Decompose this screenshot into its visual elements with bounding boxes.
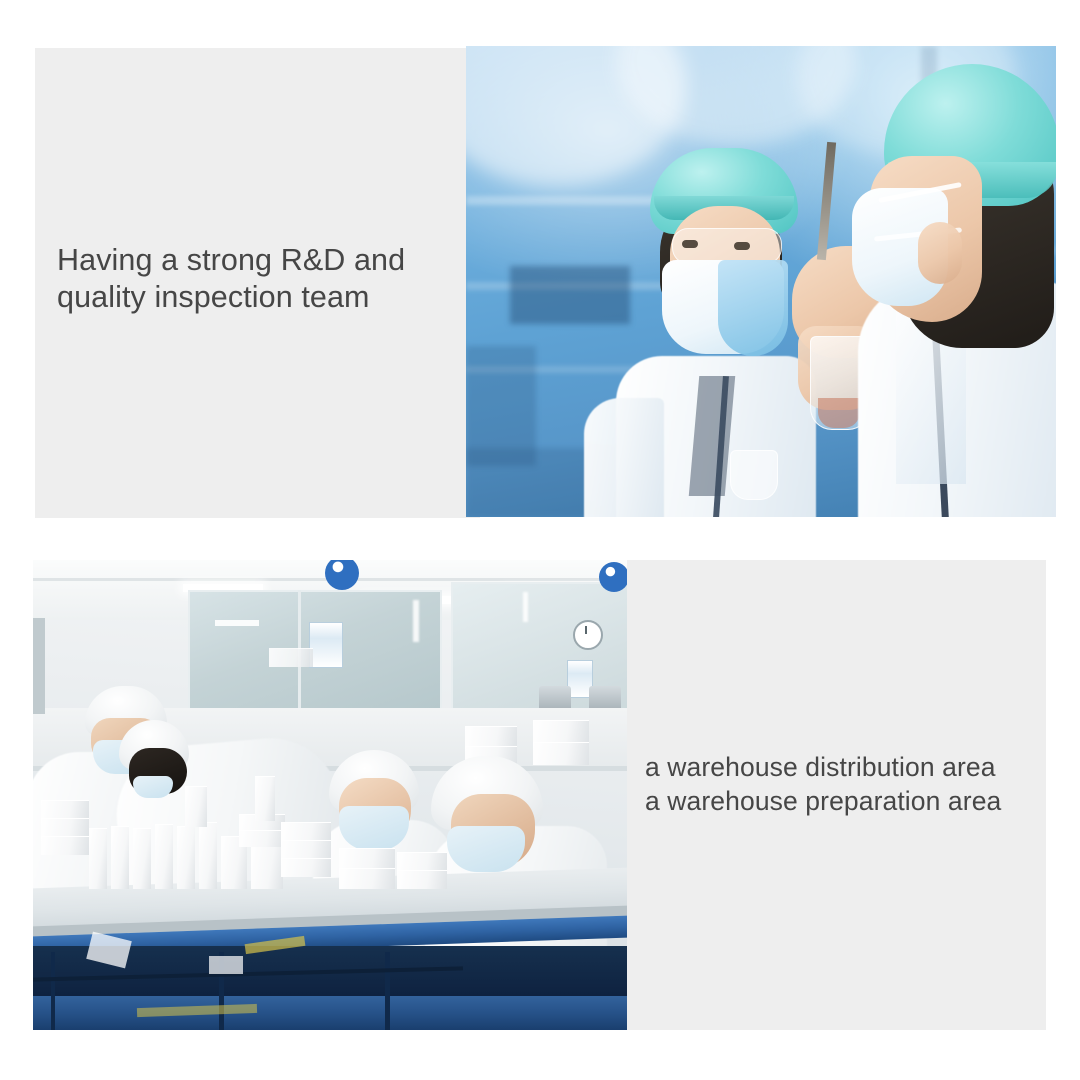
window-light-reflection [215,620,259,626]
paper-scrap-2 [209,956,243,974]
product-carton [155,824,173,889]
product-carton [251,842,283,889]
carton-stack [41,818,89,837]
worker-d-mask [447,826,525,872]
product-carton [199,822,217,889]
section-warehouse-areas: a warehouse distribution area a warehous… [33,560,1046,1030]
stacked-carton [465,726,517,747]
rd-quality-caption: Having a strong R&D and quality inspecti… [57,242,467,316]
carton-stack [41,836,89,855]
product-carton [177,826,195,889]
warehouse-packing-photo [33,560,627,1030]
carton-stack [281,822,331,841]
carton-stack [397,870,447,889]
upright-bottle-carton [255,776,275,821]
section-rd-quality: Having a strong R&D and quality inspecti… [35,46,1056,518]
stacked-carton [533,720,589,743]
clock-hand [585,626,587,634]
carton-stack [339,848,395,869]
carton-stack [397,852,447,871]
lab-shelf-bar [466,196,676,205]
blue-floor-band [33,996,627,1030]
left-vial [730,450,778,500]
product-carton [111,826,129,889]
table-leg [385,952,390,1030]
carton-stack [339,868,395,889]
left-door-edge [33,618,45,714]
carton-stack [41,800,89,819]
worker-c-mask [339,806,409,850]
warehouse-scene [33,560,627,1030]
lab-scene [466,46,1056,517]
worker-b-mask [133,776,173,798]
left-eye-right [734,242,750,250]
warehouse-areas-caption: a warehouse distribution area a warehous… [645,750,1055,818]
hanging-tube [413,600,419,642]
stacked-carton [269,648,313,667]
wall-notice-1 [309,622,343,668]
page-root: Having a strong R&D and quality inspecti… [0,0,1080,1080]
product-carton [89,828,107,889]
product-carton [133,828,151,889]
upright-bottle-carton [185,786,207,827]
blue-safety-sign-2 [599,562,627,592]
carton-stack [281,840,331,859]
left-eye-left [682,240,698,248]
carton-stack [281,858,331,877]
left-mask-blue-panel [718,260,788,356]
right-technician-ear [918,222,962,284]
hanging-tube-2 [523,592,528,622]
carton-stack [239,830,285,847]
flask-liquid [818,398,860,428]
table-leg [51,952,55,1030]
stacked-carton [533,742,589,765]
lab-technicians-photo [466,46,1056,517]
lab-equipment-blob [510,266,630,324]
wall-clock [573,620,603,650]
left-technician-shoulder [584,398,664,517]
